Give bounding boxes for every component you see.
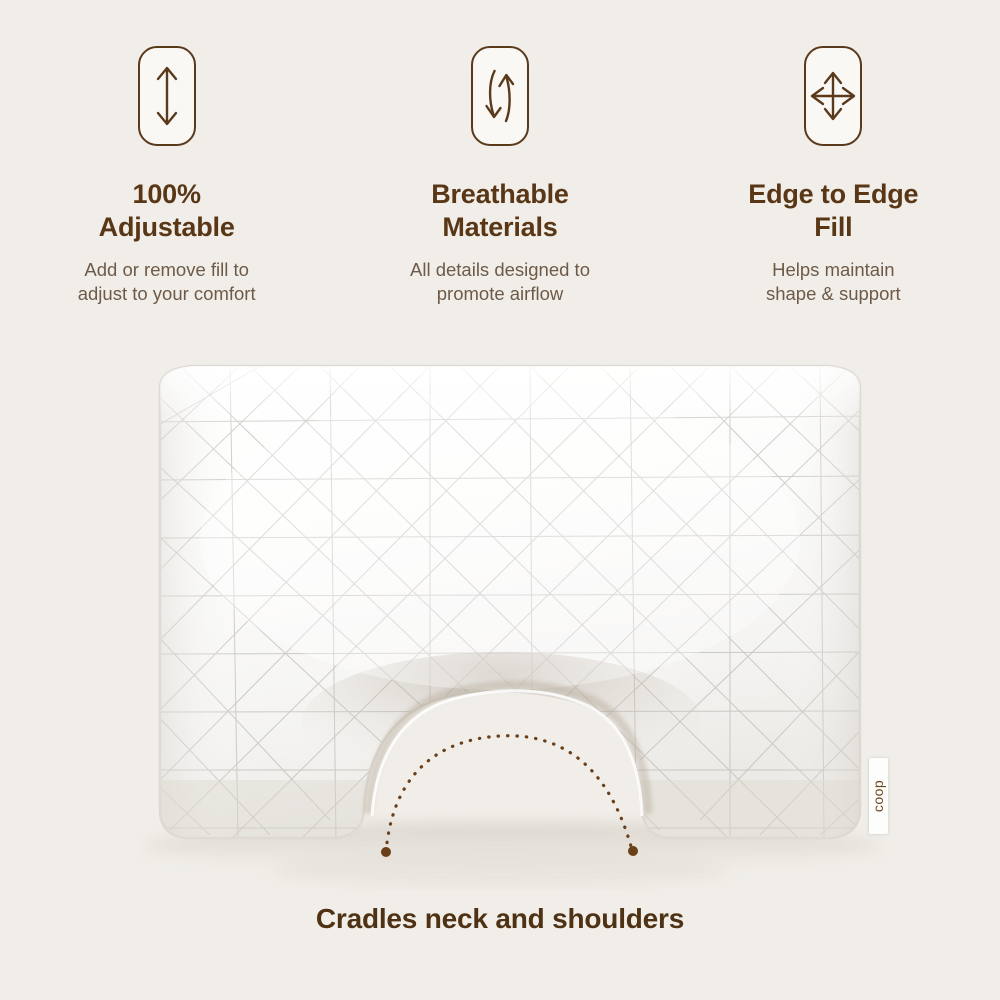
feature-subtitle: Add or remove fill to adjust to your com…	[78, 258, 256, 306]
feature-title-line-1: Breathable	[431, 178, 569, 211]
feature-subtitle-line-1: All details designed to	[410, 258, 590, 282]
pillow-body	[150, 360, 880, 850]
feature-title-line-1: Edge to Edge	[748, 178, 918, 211]
feature-title: Breathable Materials	[431, 178, 569, 244]
marketing-image: 100% Adjustable Add or remove fill to ad…	[0, 0, 1000, 1000]
feature-title-line-2: Fill	[748, 211, 918, 244]
feature-title: 100% Adjustable	[99, 178, 235, 244]
caption: Cradles neck and shoulders	[0, 903, 1000, 935]
feature-subtitle: All details designed to promote airflow	[410, 258, 590, 306]
feature-row: 100% Adjustable Add or remove fill to ad…	[0, 0, 1000, 330]
feature-subtitle-line-2: shape & support	[766, 282, 901, 306]
annotation-endpoint-left	[381, 847, 391, 857]
feature-subtitle-line-2: promote airflow	[410, 282, 590, 306]
pillow-ambient-shadow	[270, 852, 730, 888]
feature-subtitle-line-1: Helps maintain	[766, 258, 901, 282]
airflow-curved-arrows-icon	[471, 46, 529, 146]
feature-subtitle-line-1: Add or remove fill to	[78, 258, 256, 282]
four-way-arrow-icon	[804, 46, 862, 146]
annotation-endpoint-right	[628, 846, 638, 856]
product-image	[0, 330, 1000, 890]
brand-tag-label: coop	[871, 780, 887, 812]
pillow-illustration	[0, 330, 1000, 890]
feature-title: Edge to Edge Fill	[748, 178, 918, 244]
feature-column-breathable: Breathable Materials All details designe…	[333, 0, 666, 330]
brand-tag: coop	[869, 758, 888, 834]
feature-subtitle-line-2: adjust to your comfort	[78, 282, 256, 306]
feature-title-line-2: Materials	[431, 211, 569, 244]
feature-subtitle: Helps maintain shape & support	[766, 258, 901, 306]
feature-title-line-1: 100%	[99, 178, 235, 211]
feature-title-line-2: Adjustable	[99, 211, 235, 244]
vertical-double-arrow-icon	[138, 46, 196, 146]
feature-column-edge-to-edge: Edge to Edge Fill Helps maintain shape &…	[667, 0, 1000, 330]
feature-column-adjustable: 100% Adjustable Add or remove fill to ad…	[0, 0, 333, 330]
